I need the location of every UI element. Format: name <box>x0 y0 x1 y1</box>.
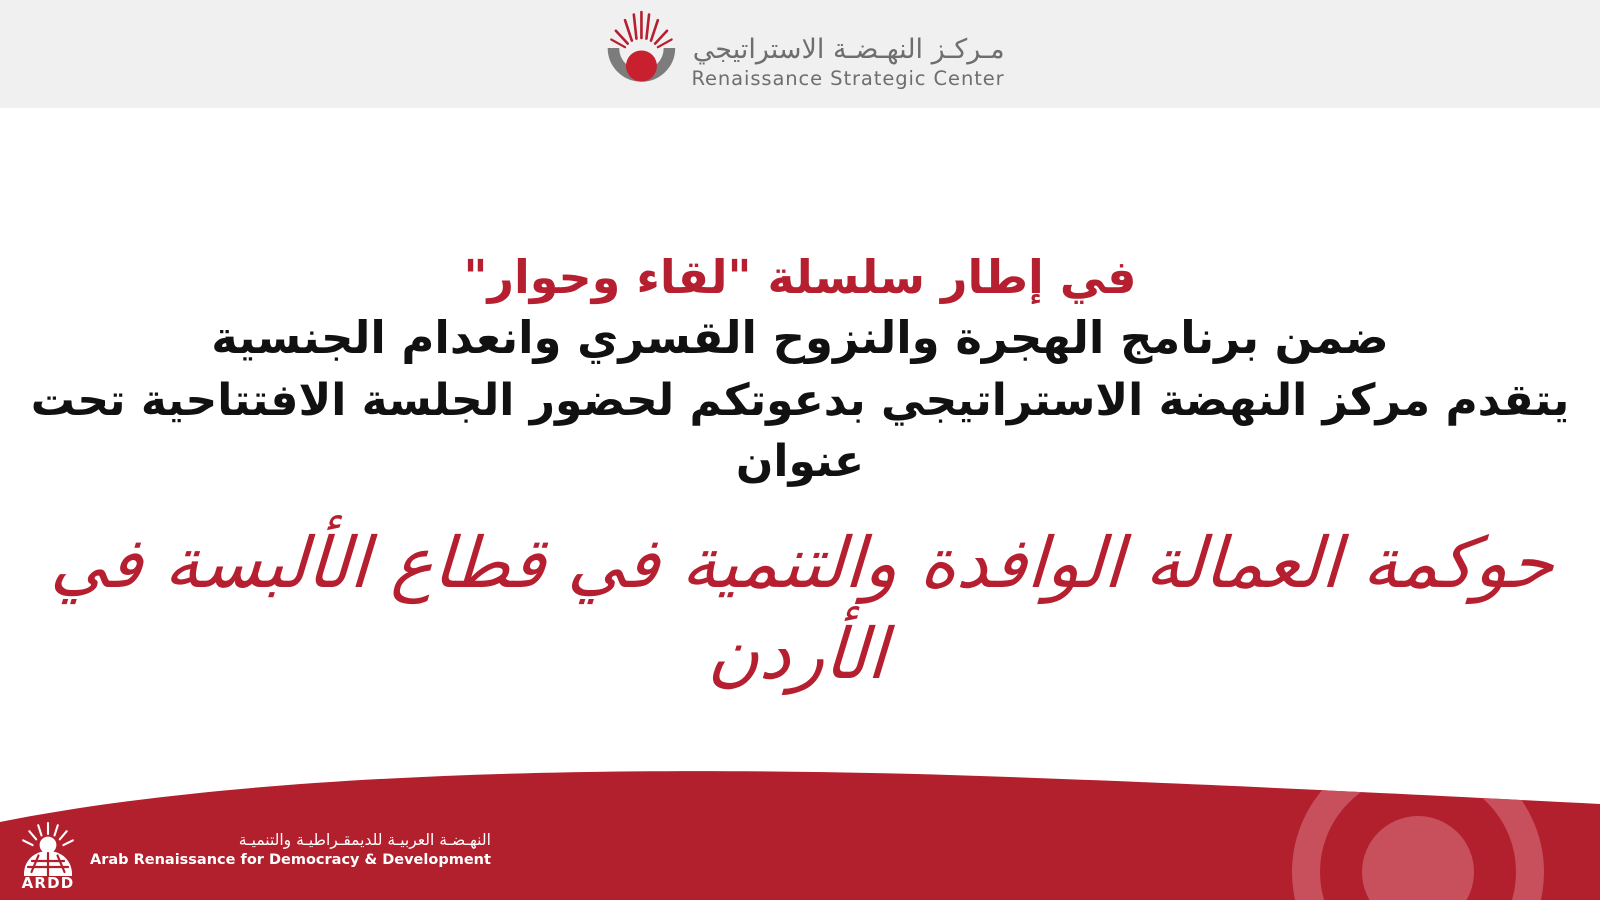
program-line: ضمن برنامج الهجرة والنزوح القسري وانعدام… <box>0 307 1600 369</box>
footer-org-name-ar: النهـضـة العربيـة للديمقـراطيـة والتنميـ… <box>90 830 491 850</box>
slide-header: مـركـز النهـضـة الاستراتيجي Renaissance … <box>0 0 1600 108</box>
ardd-sun-hand-logo-icon: ARDD <box>16 820 80 892</box>
invite-line: يتقدم مركز النهضة الاستراتيجي بدعوتكم لح… <box>0 371 1600 492</box>
header-org-name-en: Renaissance Strategic Center <box>691 66 1004 91</box>
header-logo: مـركـز النهـضـة الاستراتيجي Renaissance … <box>595 8 1004 100</box>
ardd-wordmark: ARDD <box>16 874 80 892</box>
session-title: حوكمة العمالة الوافدة والتنمية في قطاع ا… <box>0 518 1600 700</box>
presentation-slide: مـركـز النهـضـة الاستراتيجي Renaissance … <box>0 0 1600 900</box>
header-logo-text: مـركـز النهـضـة الاستراتيجي Renaissance … <box>691 17 1004 92</box>
footer-logo-text: النهـضـة العربيـة للديمقـراطيـة والتنميـ… <box>90 830 491 892</box>
series-line: في إطار سلسلة "لقاء وحوار" <box>0 248 1600 307</box>
header-org-name-ar: مـركـز النهـضـة الاستراتيجي <box>691 35 1004 65</box>
footer-logo: ARDD النهـضـة العربيـة للديمقـراطيـة وال… <box>16 820 491 892</box>
slide-body: في إطار سلسلة "لقاء وحوار" ضمن برنامج ال… <box>0 248 1600 700</box>
slide-footer: ARDD النهـضـة العربيـة للديمقـراطيـة وال… <box>0 760 1600 900</box>
footer-org-name-en: Arab Renaissance for Democracy & Develop… <box>90 851 491 870</box>
renaissance-sunburst-logo-icon <box>595 8 687 100</box>
